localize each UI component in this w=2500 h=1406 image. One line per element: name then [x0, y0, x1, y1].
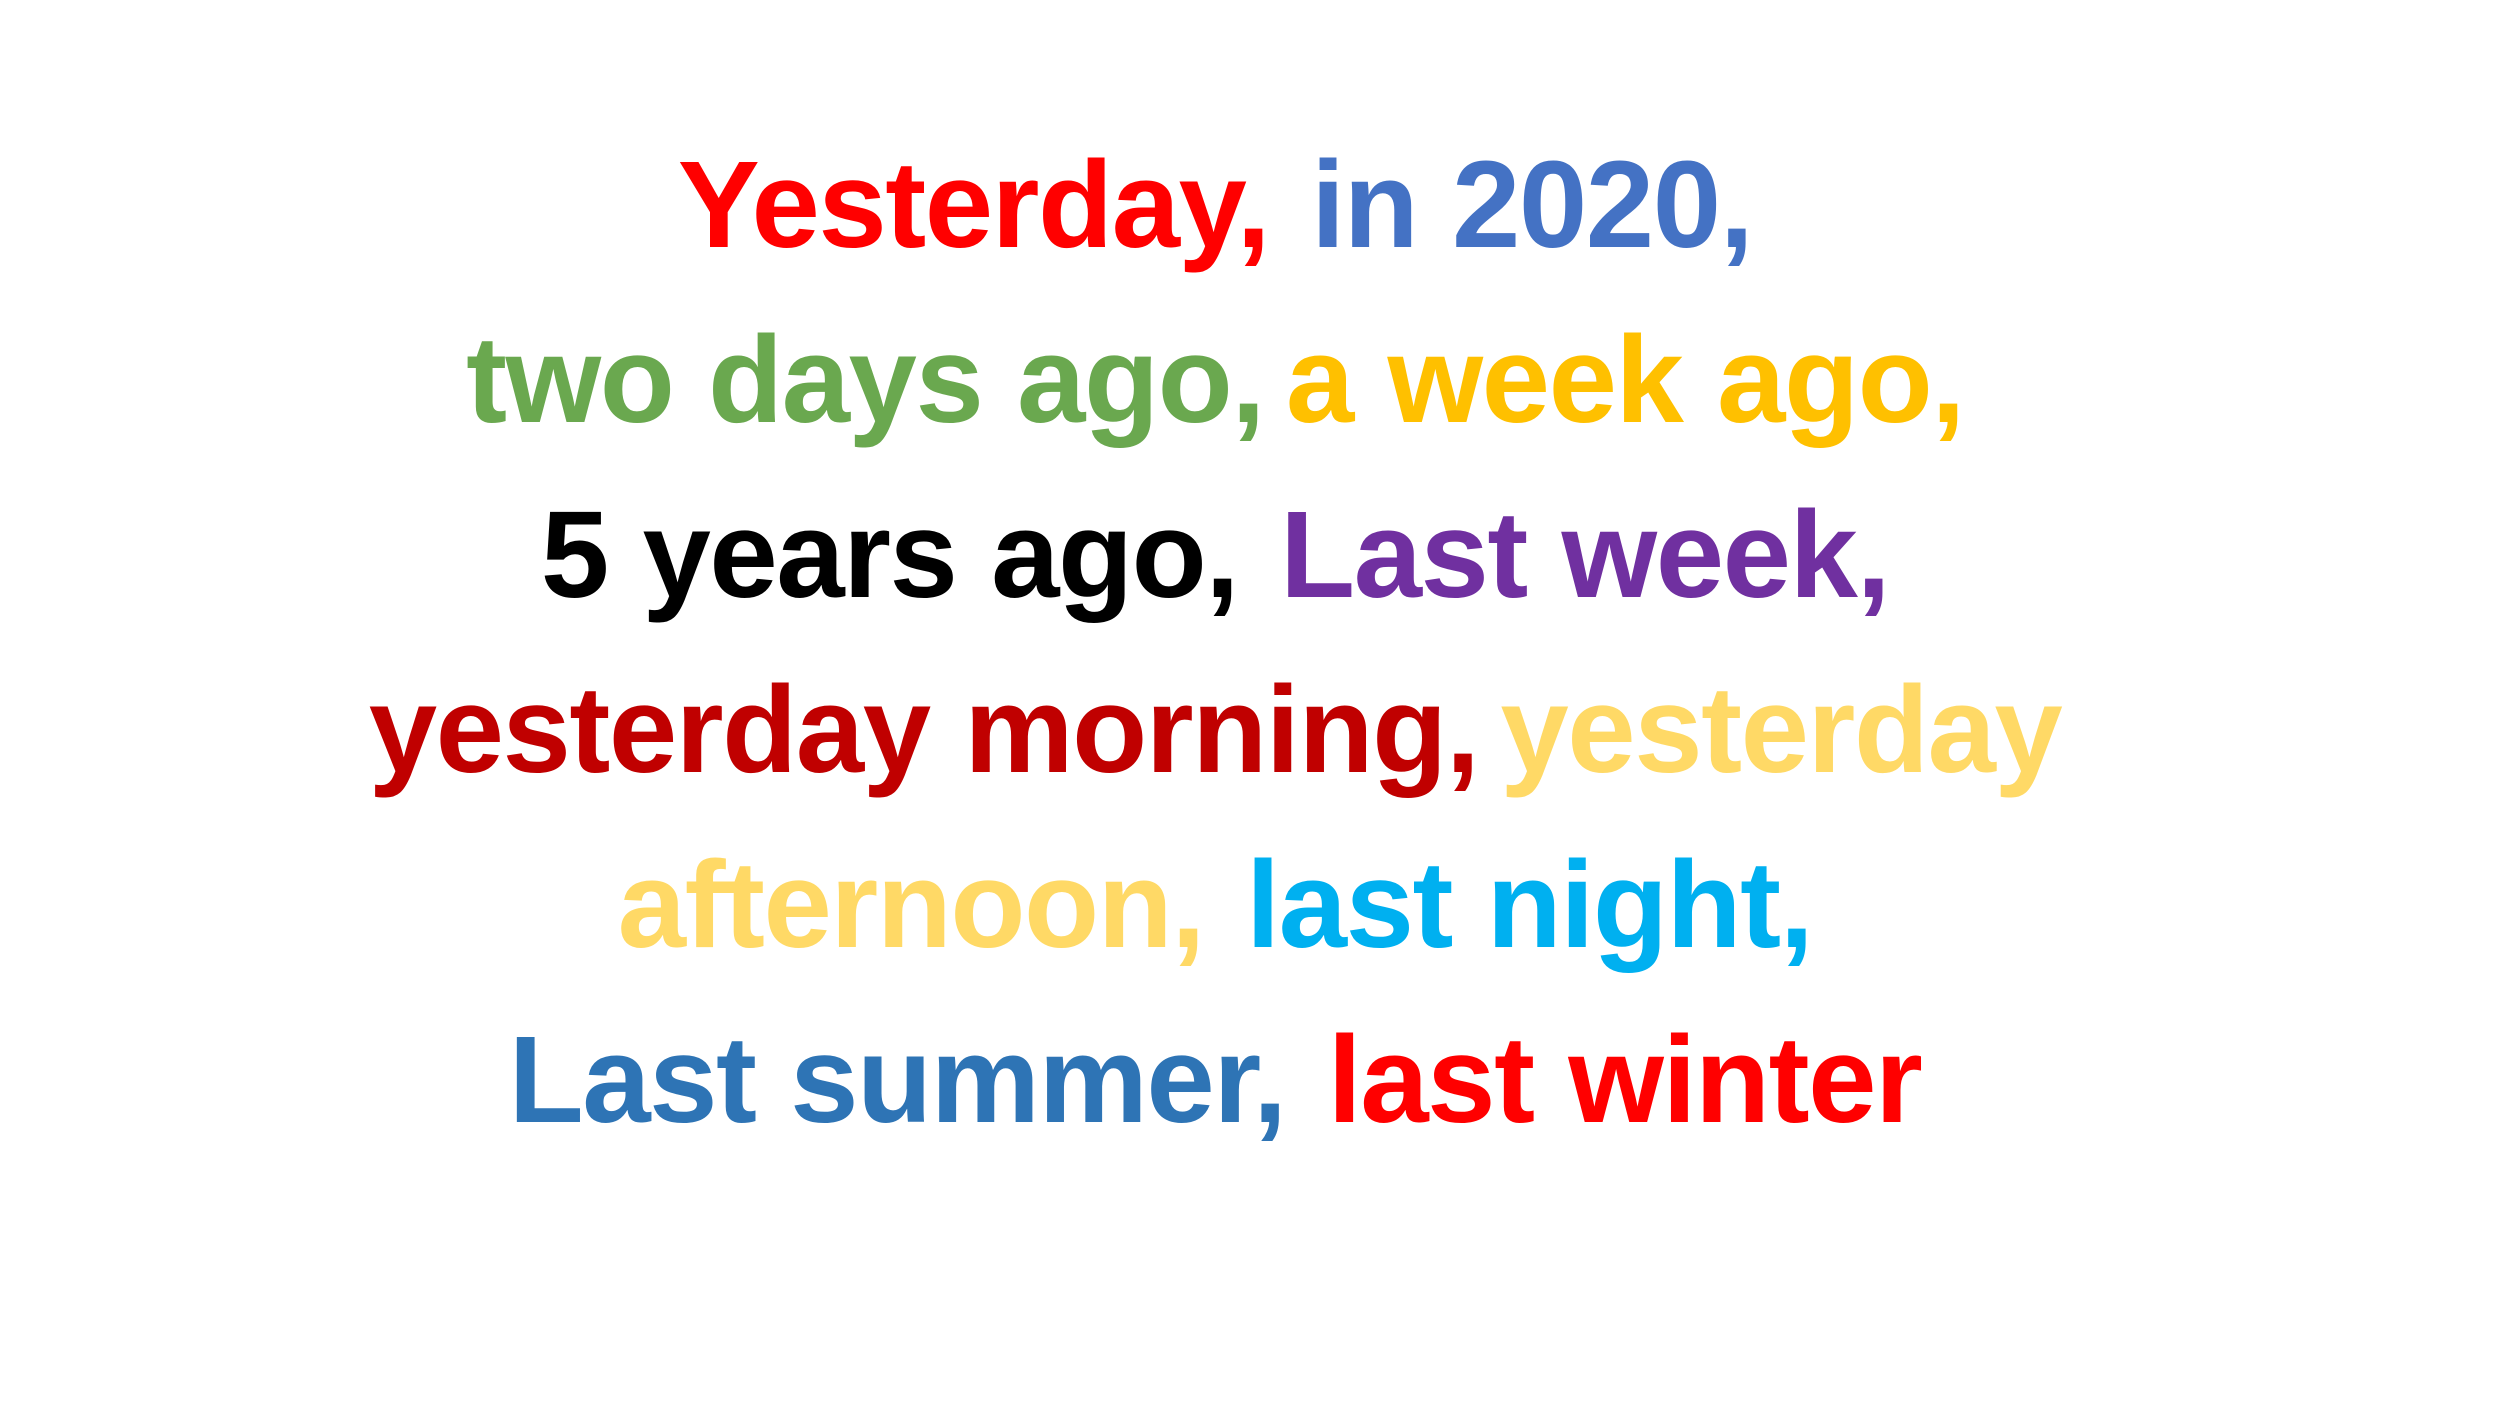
phrase-two-days-ago: two days ago, [466, 312, 1264, 449]
time-expressions-text-block: Yesterday,in 2020, two days ago,a week a… [290, 118, 2140, 1168]
phrase-in-2020: in 2020, [1311, 137, 1752, 274]
slide-canvas: Yesterday,in 2020, two days ago,a week a… [0, 0, 2500, 1406]
phrase-a-week-ago: a week ago, [1286, 312, 1964, 449]
phrase-afternoon: afternoon, [618, 837, 1204, 974]
phrase-5-years-ago: 5 years ago, [541, 487, 1238, 624]
phrase-last-night: last night, [1246, 837, 1812, 974]
phrase-yesterday-light: yesterday [1500, 662, 2061, 799]
phrase-last-summer: Last summer, [509, 1012, 1286, 1149]
phrase-last-winter: last winter [1328, 1012, 1922, 1149]
phrase-yesterday-morning: yesterday morning, [369, 662, 1479, 799]
phrase-last-week: Last week, [1280, 487, 1889, 624]
phrase-yesterday: Yesterday, [678, 137, 1269, 274]
